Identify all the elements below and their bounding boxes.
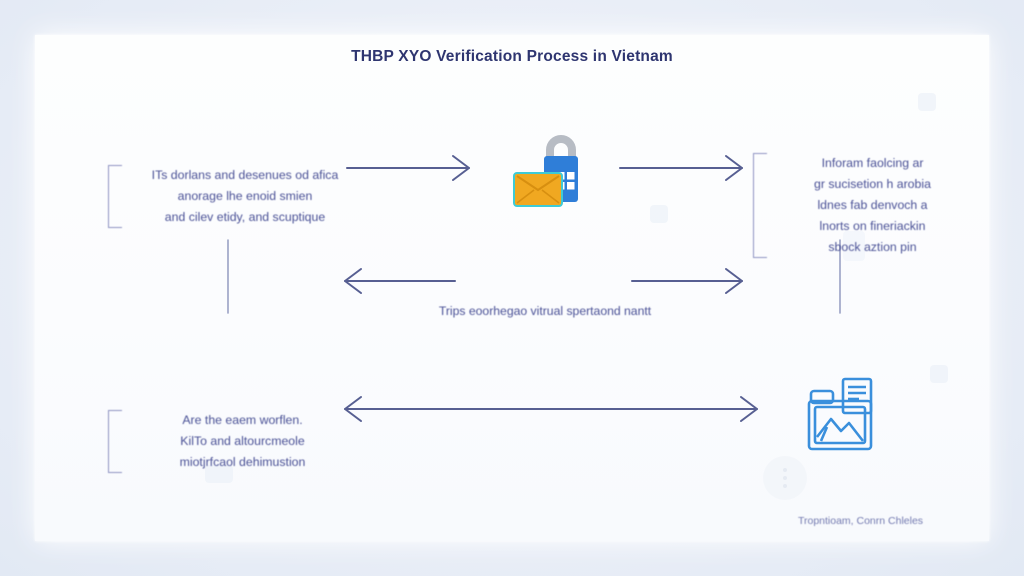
text-line: and cilev etidy, and scuptique	[138, 207, 352, 228]
image-document-icon	[803, 375, 885, 457]
ghost-artifact	[930, 365, 948, 383]
text-block-bottom: Are the eaem worflen. KilTo and altourcm…	[108, 410, 353, 473]
infographic-canvas: THBP XYO Verification Process in Vietnam	[0, 0, 1024, 576]
text-line: Are the eaem worflen.	[138, 410, 347, 431]
more-vertical-icon[interactable]	[763, 456, 807, 500]
arrow-bidirectional-bottom	[345, 397, 757, 421]
text-line: lnorts on fineriackin	[783, 216, 962, 237]
ghost-artifact	[918, 93, 936, 111]
arrow-middle-right	[632, 269, 742, 293]
text-block-right: Inforam faolcing ar gr sucisetion h arob…	[753, 153, 968, 258]
ghost-artifact	[650, 205, 668, 223]
bracket-bottom	[108, 410, 122, 473]
padlock-mail-icon	[506, 128, 596, 218]
arrow-middle-left	[345, 269, 455, 293]
text-line: ITs dorlans and desenues od afica	[138, 165, 352, 186]
text-line: gr sucisetion h arobia	[783, 174, 962, 195]
arrow-left-to-lock	[347, 156, 469, 180]
text-line: KilTo and altourcmeole	[138, 431, 347, 452]
content-card: THBP XYO Verification Process in Vietnam	[35, 35, 989, 541]
text-line: sbock aztion pin	[783, 237, 962, 258]
footer-caption: Tropntioam, Conrn Chleles	[753, 515, 968, 527]
text-line: ldnes fab denvoch a	[783, 195, 962, 216]
more-dot	[783, 484, 787, 488]
more-dot	[783, 468, 787, 472]
bracket-left	[108, 165, 122, 228]
text-line: anorage lhe enoid smien	[138, 186, 352, 207]
text-line: miotjrfcaol dehimustion	[138, 452, 347, 473]
bracket-right	[753, 153, 767, 258]
page-title: THBP XYO Verification Process in Vietnam	[35, 48, 989, 66]
arrow-lock-to-right	[620, 156, 742, 180]
connector-caption-middle: Trips eoorhegao vitrual spertaond nantt	[435, 304, 655, 318]
text-line: Inforam faolcing ar	[783, 153, 962, 174]
text-block-left: ITs dorlans and desenues od afica anorag…	[108, 165, 358, 228]
more-dot	[783, 476, 787, 480]
